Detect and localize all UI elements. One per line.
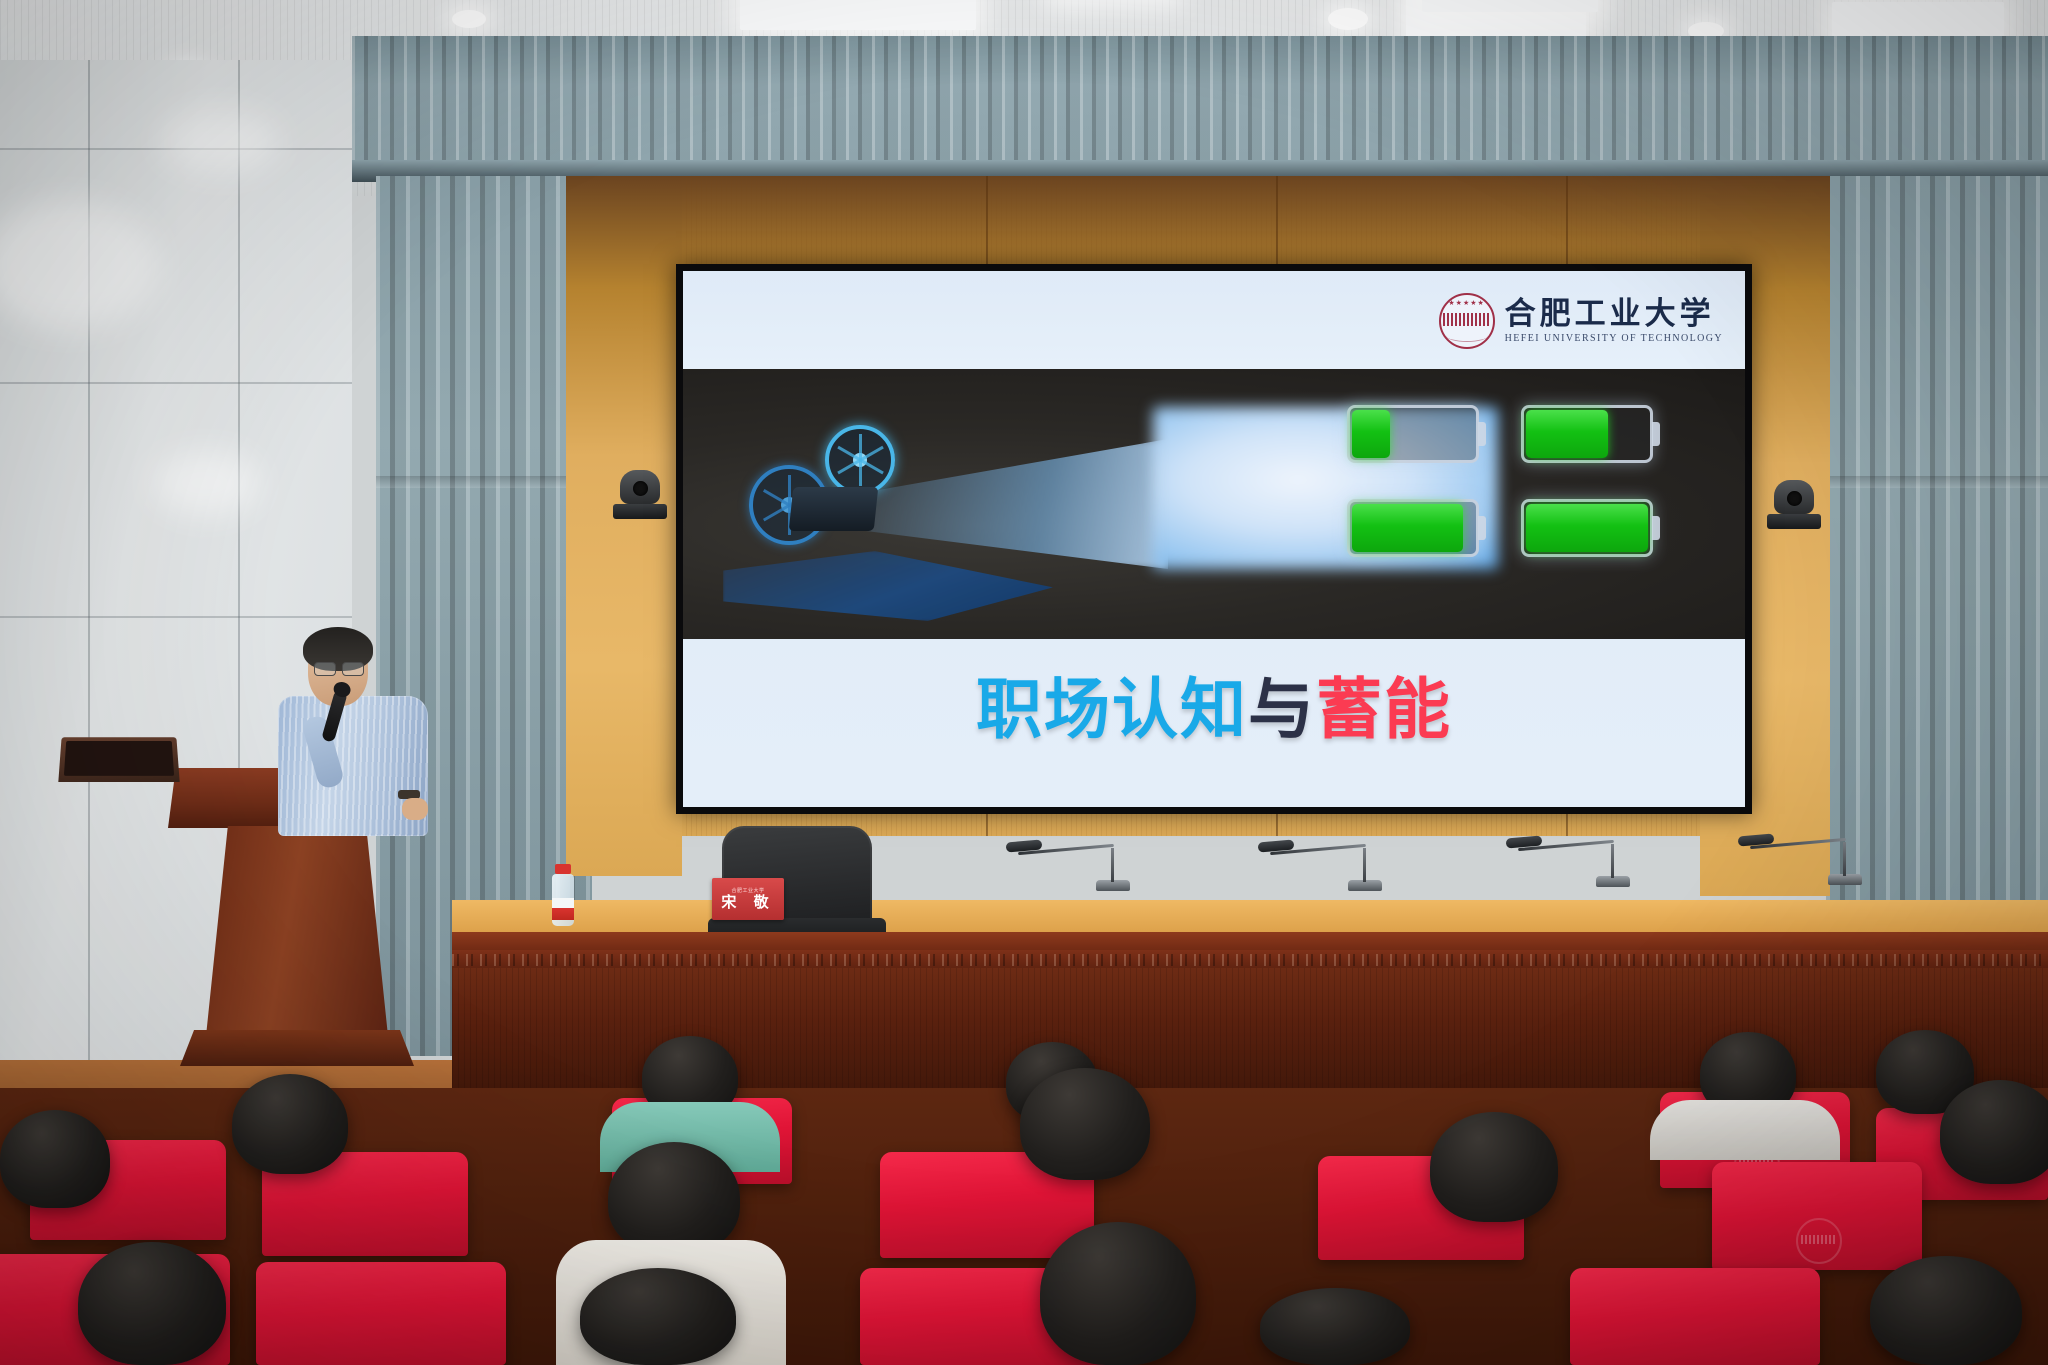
seal-stars: ★★★★★ [1441,299,1493,307]
title-part-cognition: 职场认知 [976,671,1248,748]
audience-head [580,1268,736,1365]
seat-crest-icon [1796,1218,1842,1264]
university-name-cn: 合肥工业大学 [1505,298,1723,329]
battery-level-3 [1347,499,1479,557]
camera-mount [613,504,667,519]
slide-title: 职场认知与蓄能 [683,677,1745,743]
audience-head [0,1110,110,1208]
seal-arc [1446,329,1488,342]
battery-level-4 [1521,499,1653,557]
audience-head [78,1242,226,1365]
bottle-body [552,874,574,926]
valance-pleat-texture [352,36,2048,176]
ceiling-light-panel [740,0,976,30]
ceiling-light-panel [1422,0,1598,12]
camera-lens-icon [1787,491,1802,506]
bottle-cap [555,864,571,874]
audience-seat[interactable] [1570,1268,1820,1365]
laptop-screen [64,741,174,776]
desk-nameplate: 合肥工业大学 宋 敬 [712,878,784,920]
podium-laptop[interactable] [58,737,179,782]
film-reel-upper-icon [825,425,895,495]
audience-head [1940,1080,2048,1184]
projector-table [723,551,1053,621]
nameplate-person: 宋 敬 [721,894,774,911]
camera-head-icon [620,470,660,504]
audience-shoulders [1650,1100,1840,1160]
audience-head [232,1074,348,1174]
title-part-energy: 蓄能 [1316,671,1452,748]
battery-fill [1352,410,1390,458]
battery-fill [1526,504,1648,552]
audience-head [608,1142,740,1254]
camera-lens-icon [633,481,648,496]
lectern-base [180,1030,414,1066]
audience-seat[interactable] [256,1262,506,1365]
presentation-slide[interactable]: ★★★★★ 合肥工业大学 HEFEI UNIVERSITY OF TECHNOL… [683,271,1745,807]
recessed-downlight [1328,8,1368,30]
battery-fill [1352,504,1463,552]
battery-level-1 [1347,405,1479,463]
projector-light-beam [858,439,1168,569]
camera-mount [1767,514,1821,529]
head-table-trim [452,950,2048,970]
camera-head-icon [1774,480,1814,514]
bottle-label [552,898,574,920]
university-logo: ★★★★★ 合肥工业大学 HEFEI UNIVERSITY OF TECHNOL… [1439,293,1723,349]
ptz-camera-right [1774,480,1821,529]
audience-seat[interactable] [1712,1162,1922,1270]
stage-wood-wall-left-return [566,176,682,876]
water-bottle [552,864,574,926]
gooseneck-microphone [1096,880,1130,891]
greek-key-pattern [452,954,2048,966]
slide-header: ★★★★★ 合肥工业大学 HEFEI UNIVERSITY OF TECHNOL… [683,271,1745,369]
audience-head [1870,1256,2022,1365]
university-name-en: HEFEI UNIVERSITY OF TECHNOLOGY [1505,333,1723,344]
presenter [270,632,430,832]
audience-head [1260,1288,1410,1365]
gooseneck-microphone [1828,874,1862,885]
lectern-column [206,826,388,1036]
audience-head [1040,1222,1196,1365]
presenter-hand [402,798,428,820]
projector-body [789,487,879,531]
recessed-downlight [452,10,486,28]
ptz-camera-left [620,470,667,519]
gooseneck-microphone [1348,880,1382,891]
seal-band [1443,313,1491,326]
audience-head [1430,1112,1558,1222]
audience-head [1020,1068,1150,1180]
gooseneck-microphone [1596,876,1630,887]
title-part-conjunction: 与 [1248,671,1316,748]
curtain-valance [352,36,2048,176]
auditorium-scene: ★★★★★ 合肥工业大学 HEFEI UNIVERSITY OF TECHNOL… [0,0,2048,1365]
eyeglasses-icon [314,662,364,674]
led-display-bezel: ★★★★★ 合肥工业大学 HEFEI UNIVERSITY OF TECHNOL… [676,264,1752,814]
slide-image-band [683,369,1745,639]
battery-fill [1526,410,1608,458]
university-seal-icon: ★★★★★ [1439,293,1495,349]
battery-level-2 [1521,405,1653,463]
